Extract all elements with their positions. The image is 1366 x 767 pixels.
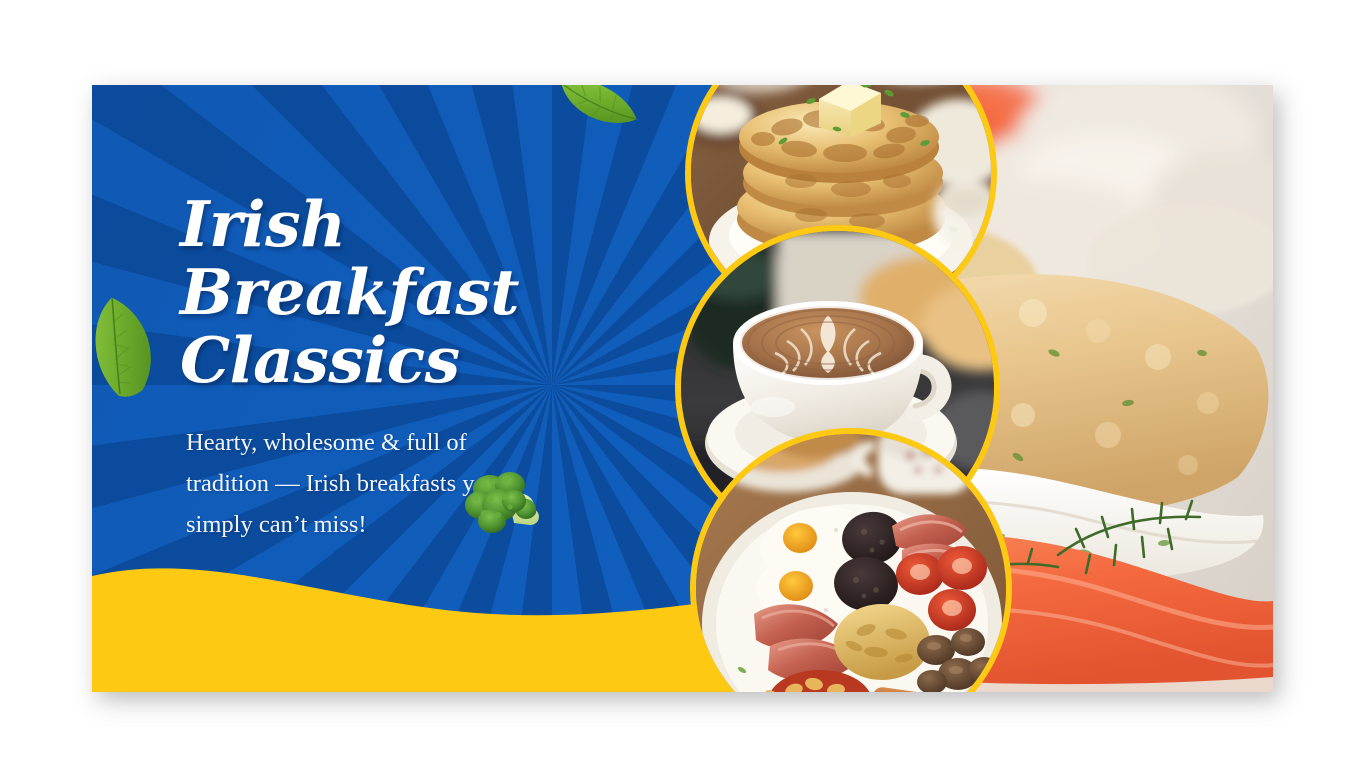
page-title: Irish Breakfast Classics (180, 190, 700, 394)
page-subtitle: Hearty, wholesome & full of tradition — … (186, 422, 546, 545)
poster-card: Irish Breakfast Classics Hearty, wholeso… (92, 85, 1273, 692)
text-block: Irish Breakfast Classics Hearty, wholeso… (180, 190, 700, 546)
poster-canvas: Irish Breakfast Classics Hearty, wholeso… (0, 0, 1366, 767)
